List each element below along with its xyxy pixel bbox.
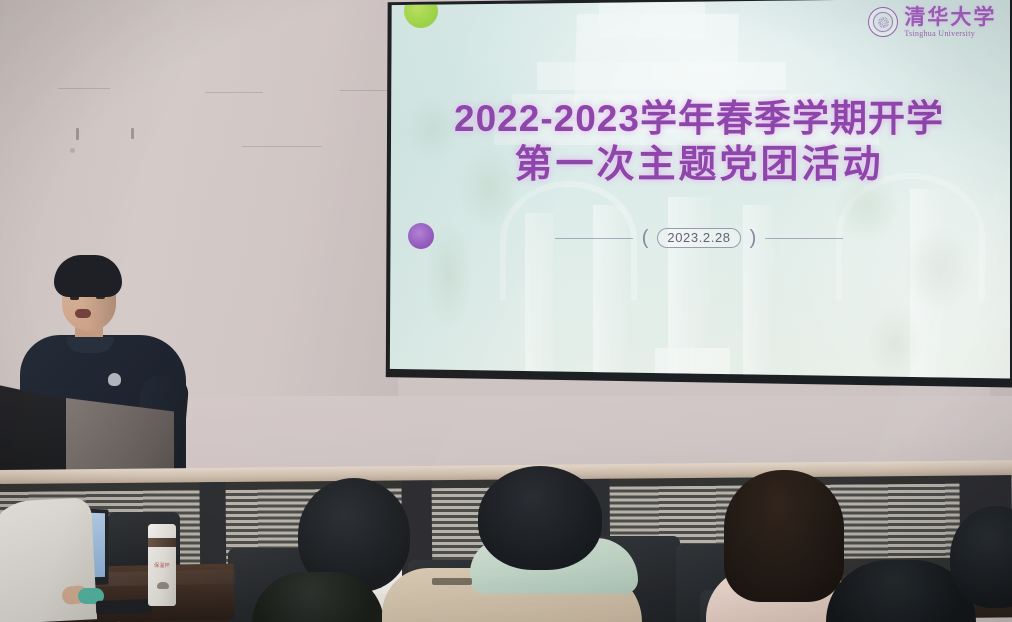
date-paren-left: ( [642,227,649,250]
thermos-cap [148,524,176,536]
date-rule-left [555,238,633,239]
thermos-label-text: 保温杯 [149,562,175,569]
wall-hook-icon [76,128,79,140]
tsinghua-seal-icon [868,7,898,37]
attendee-center-dark-head [478,466,602,570]
sweater-emblem-icon [108,373,121,386]
slide-title-line-2: 第一次主题党团活动 [388,142,1010,190]
projection-screen: 2022-2023学年春季学期开学 第一次主题党团活动 ( 2023.2.28 … [388,0,1010,396]
logo-name-en: Tsinghua University [904,30,996,38]
slide-date-row: ( 2023.2.28 ) [388,227,1010,250]
wall-hook-icon [131,128,134,139]
logo-name-cn: 清华大学 [904,7,996,28]
lecture-hall-photo: 2022-2023学年春季学期开学 第一次主题党团活动 ( 2023.2.28 … [0,0,1012,622]
jacket-brand-label [432,578,472,585]
attendee-pink-top-hair [724,470,844,602]
slide-title-line-1: 2022-2023学年春季学期开学 [388,96,1010,143]
thermos-emblem-icon [157,582,169,589]
date-rule-right [765,238,843,239]
presenter-hair [54,255,122,297]
presenter-mouth [75,309,91,318]
tsinghua-logo: 清华大学 Tsinghua University [868,7,996,38]
date-paren-right: ) [750,227,757,250]
slide-title: 2022-2023学年春季学期开学 第一次主题党团活动 [388,96,1010,190]
smartphone-on-desk[interactable] [96,599,152,615]
slide-date-badge: 2023.2.28 [657,228,740,248]
